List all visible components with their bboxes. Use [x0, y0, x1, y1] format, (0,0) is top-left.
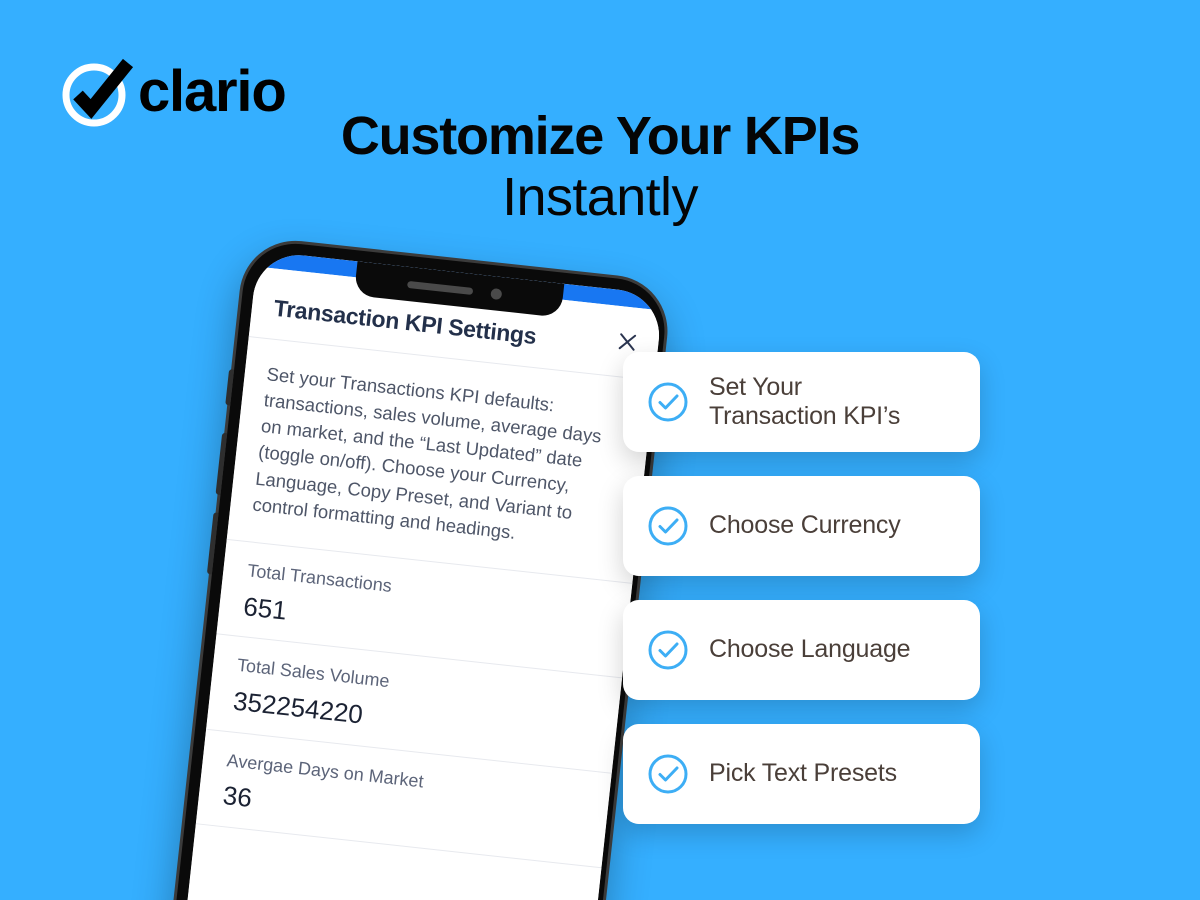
- feature-card-choose-currency[interactable]: Choose Currency: [623, 476, 980, 576]
- feature-card-label: Choose Language: [709, 635, 910, 665]
- check-circle-icon: [647, 753, 689, 795]
- phone-mockup: Transaction KPI Settings Set your Transa…: [164, 235, 684, 900]
- phone-volume-down-button: [207, 512, 219, 574]
- feature-card-choose-language[interactable]: Choose Language: [623, 600, 980, 700]
- transaction-kpi-settings-dialog: Transaction KPI Settings Set your Transa…: [181, 266, 662, 900]
- phone-frame: Transaction KPI Settings Set your Transa…: [166, 235, 673, 900]
- phone-speaker: [407, 281, 473, 295]
- headline-line-1: Customize Your KPIs: [0, 106, 1200, 166]
- phone-volume-up-button: [216, 433, 228, 495]
- check-circle-icon: [647, 505, 689, 547]
- promo-banner: clario Customize Your KPIs Instantly Tra…: [0, 0, 1200, 900]
- phone-screen: Transaction KPI Settings Set your Transa…: [181, 251, 664, 900]
- feature-card-pick-text-presets[interactable]: Pick Text Presets: [623, 724, 980, 824]
- page-title: Customize Your KPIs Instantly: [0, 106, 1200, 230]
- phone-silent-switch: [225, 369, 234, 405]
- feature-card-set-your-transaction-kpis[interactable]: Set YourTransaction KPI’s: [623, 352, 980, 452]
- check-circle-icon: [647, 381, 689, 423]
- feature-card-label: Set YourTransaction KPI’s: [709, 373, 900, 432]
- headline-line-2: Instantly: [0, 166, 1200, 230]
- feature-card-label: Choose Currency: [709, 511, 901, 541]
- phone-camera-icon: [490, 288, 502, 300]
- feature-card-label: Pick Text Presets: [709, 759, 897, 789]
- check-circle-icon: [647, 629, 689, 671]
